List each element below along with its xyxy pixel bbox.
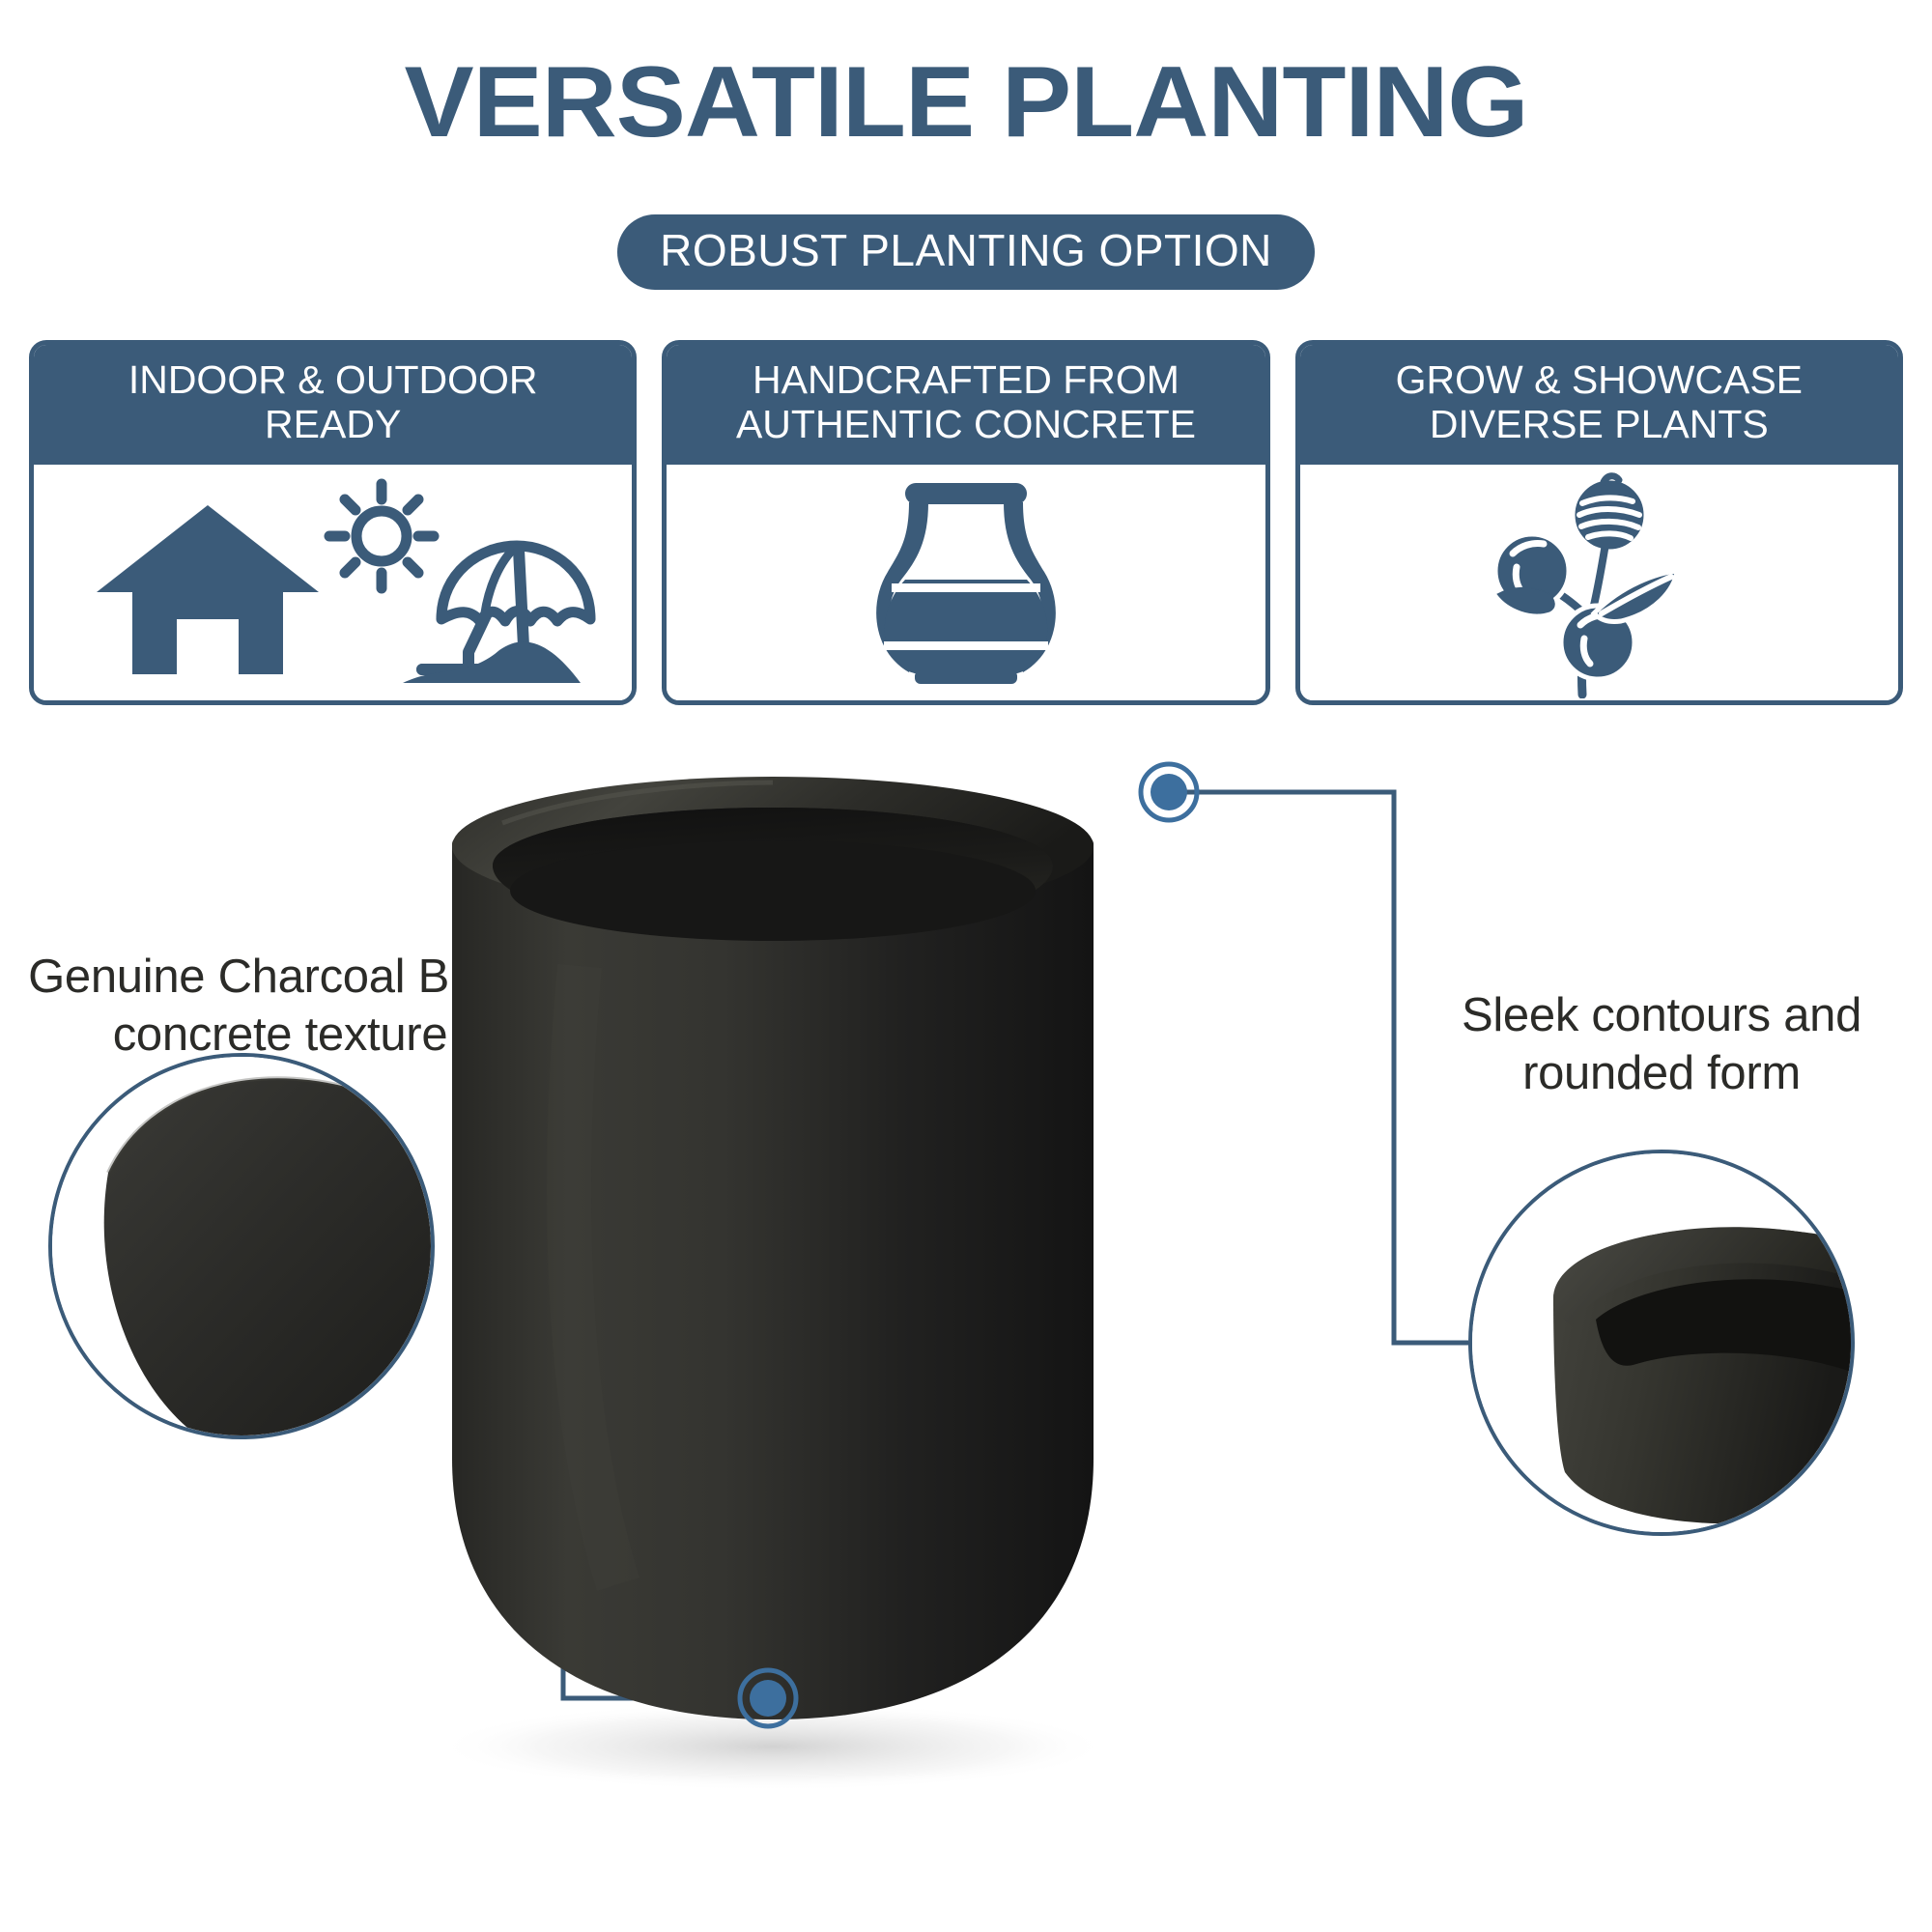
callout-texture-line1: Genuine Charcoal Black [10,949,551,1007]
contours-closeup-image [1472,1153,1851,1532]
sun-icon [329,484,434,588]
vase-icon [855,471,1077,694]
feature-card-row: INDOOR & OUTDOOR READY [29,340,1903,705]
product-shadow [435,1702,1111,1791]
feature-card-icons [34,465,632,700]
feature-card-title: INDOOR & OUTDOOR READY [34,345,632,465]
callout-label-contours: Sleek contours and rounded form [1391,987,1932,1103]
contours-detail-circle [1468,1150,1855,1536]
infographic-page: VERSATILE PLANTING ROBUST PLANTING OPTIO… [0,0,1932,1932]
badge-row: ROBUST PLANTING OPTION [0,214,1932,290]
texture-detail-circle [48,1053,435,1439]
feature-card-title-line2: AUTHENTIC CONCRETE [678,403,1253,447]
feature-card-title-line1: HANDCRAFTED FROM [678,358,1253,403]
main-planter-image [452,777,1094,1719]
feature-card-handcrafted-concrete: HANDCRAFTED FROM AUTHENTIC CONCRETE [662,340,1269,705]
callout-label-texture: Genuine Charcoal Black concrete texture [10,949,551,1065]
berry-sprig-icon [1478,467,1719,698]
texture-marker-dot[interactable] [740,1670,796,1726]
subtitle-badge: ROBUST PLANTING OPTION [617,214,1315,290]
feature-card-title-line2: READY [45,403,620,447]
texture-closeup-image [52,1057,431,1435]
callout-contours-line1: Sleek contours and [1391,987,1932,1045]
product-stage: Genuine Charcoal Black concrete texture … [0,676,1932,1932]
indoor-outdoor-icon-group [63,476,604,689]
callout-texture-line2: concrete texture [10,1007,551,1065]
contours-marker-dot[interactable] [1141,764,1197,820]
page-title: VERSATILE PLANTING [0,50,1932,156]
feature-card-title: HANDCRAFTED FROM AUTHENTIC CONCRETE [667,345,1264,465]
connector-line-texture [563,1439,768,1698]
feature-card-icons [667,465,1264,700]
feature-card-grow-showcase: GROW & SHOWCASE DIVERSE PLANTS [1295,340,1903,705]
house-icon [97,505,319,674]
feature-card-indoor-outdoor: INDOOR & OUTDOOR READY [29,340,637,705]
feature-card-title-line1: GROW & SHOWCASE [1312,358,1887,403]
beach-umbrella-icon [403,546,590,683]
feature-card-icons [1300,465,1898,700]
planter-rim [452,777,1094,916]
feature-card-title-line2: DIVERSE PLANTS [1312,403,1887,447]
feature-card-title: GROW & SHOWCASE DIVERSE PLANTS [1300,345,1898,465]
feature-card-title-line1: INDOOR & OUTDOOR [45,358,620,403]
planter-inner-wall [493,808,1053,923]
callout-contours-line2: rounded form [1391,1045,1932,1103]
